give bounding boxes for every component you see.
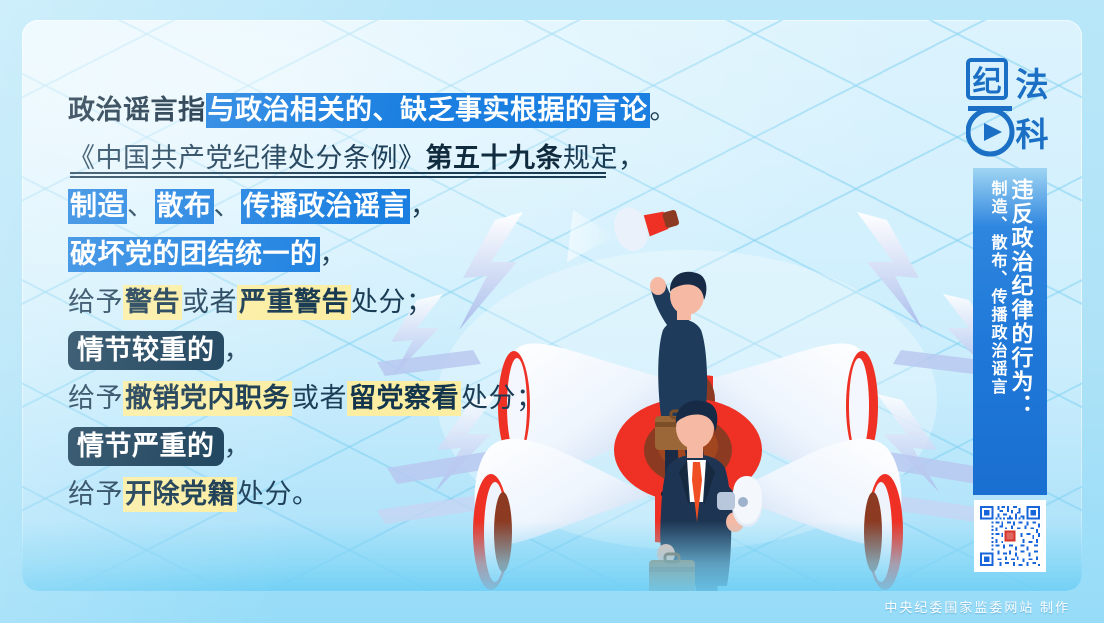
text-line-3: 制造、散布、传播政治谣言， [68,182,688,230]
brand-logo-jifa-baike[interactable]: 纪 法 科 [966,50,1056,160]
side-panel: 违反政治纪律的行为： 制造、散布、传播政治谣言 [973,168,1047,495]
line5-part-4: 处分； [351,287,434,317]
line6-part-1: ， [224,335,252,365]
logo-char-fa: 法 [1016,67,1049,104]
line5-part-2: 或者 [182,287,237,317]
credit-text: 中央纪委国家监委网站 制作 [884,597,1070,616]
text-line-8: 情节严重的， [68,422,688,470]
text-line-1: 政治谣言指与政治相关的、缺乏事实根据的言论。 [68,86,688,134]
line9-part-2: 处分。 [237,479,320,509]
text-line-6: 情节较重的， [68,326,688,374]
qr-code[interactable] [974,500,1046,572]
line7-part-2: 或者 [292,383,347,413]
line5-part-3: 严重警告 [237,285,351,320]
text-line-9: 给予开除党籍处分。 [68,470,688,518]
line9-part-0: 给予 [68,479,123,509]
logo-char-ji: 纪 [972,65,1001,98]
line4-part-0: 破坏党的团结统一的 [68,237,320,272]
line6-pill: 情节较重的 [68,331,224,370]
line9-part-1: 开除党籍 [123,477,237,512]
line3-part-3: 、 [214,191,242,221]
double-underline [70,172,606,178]
text-line-2: 《中国共产党纪律处分条例》第五十九条规定， [68,134,688,182]
logo-char-ke: 科 [1016,117,1049,154]
line3-part-2: 散布 [155,189,214,224]
line2-part-0: 《中国共产党纪律处分条例》 [68,143,426,173]
text-line-5: 给予警告或者严重警告处分； [68,278,688,326]
line1-part-2: 。 [650,95,678,125]
line8-pill: 情节严重的 [68,427,224,466]
line3-part-4: 传播政治谣言 [241,189,410,224]
line8-part-1: ， [224,431,252,461]
side-panel-subtitle: 制造、散布、传播政治谣言 [988,178,1007,495]
play-icon [984,123,1002,141]
line5-part-0: 给予 [68,287,123,317]
line2-part-1: 第五十九条 [426,143,564,173]
poster-card: 政治谣言指与政治相关的、缺乏事实根据的言论。 《中国共产党纪律处分条例》第五十九… [22,20,1082,591]
line3-part-0: 制造 [68,189,127,224]
line1-part-1: 与政治相关的、缺乏事实根据的言论 [206,93,650,128]
line3-part-5: ， [410,191,438,221]
line1-part-0: 政治谣言指 [68,95,206,125]
qr-code-image [978,504,1042,568]
line7-part-3: 留党察看 [347,381,461,416]
line4-part-1: ， [320,239,348,269]
bottom-band [22,521,1082,591]
line7-part-0: 给予 [68,383,123,413]
line7-part-1: 撤销党内职务 [123,381,292,416]
side-panel-title: 违反政治纪律的行为： [1009,178,1033,495]
poster-root: 政治谣言指与政治相关的、缺乏事实根据的言论。 《中国共产党纪律处分条例》第五十九… [0,0,1104,623]
line3-part-1: 、 [127,191,155,221]
line5-part-1: 警告 [123,285,182,320]
line7-part-4: 处分； [461,383,544,413]
line2-part-2: 规定， [563,143,646,173]
body-text-block: 政治谣言指与政治相关的、缺乏事实根据的言论。 《中国共产党纪律处分条例》第五十九… [68,86,688,518]
text-line-4: 破坏党的团结统一的， [68,230,688,278]
text-line-7: 给予撤销党内职务或者留党察看处分； [68,374,688,422]
